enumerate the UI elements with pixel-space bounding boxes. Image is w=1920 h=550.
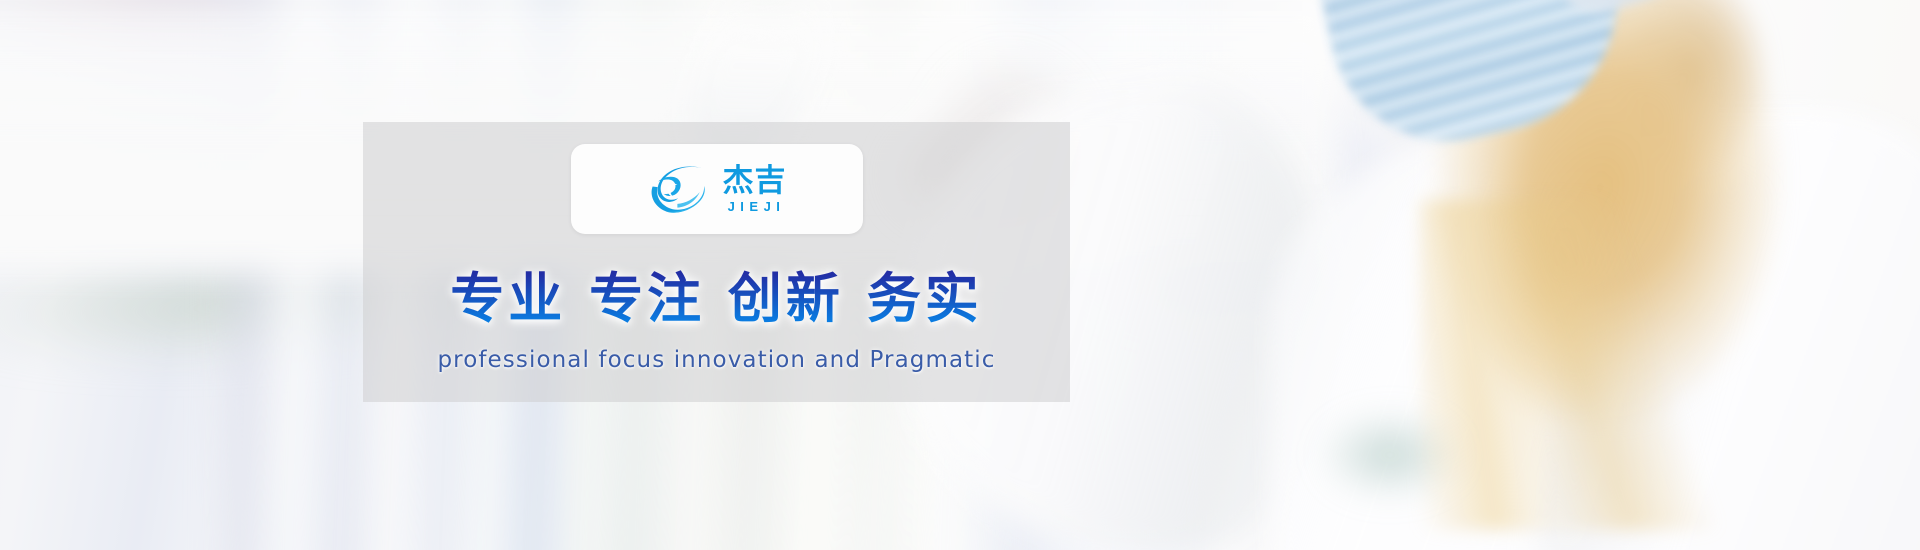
jieji-swirl-mark-icon [647,158,709,220]
slogan-headline: 专业 专注 创新 务实 [450,254,982,333]
logo-chinese-name: 杰吉 [723,166,787,197]
logo-pinyin: JIEJI [728,200,786,213]
content-panel: 杰吉 JIEJI 专业 专注 创新 务实 professional focus … [363,122,1070,402]
company-logo[interactable]: 杰吉 JIEJI [571,144,863,234]
slogan-subtitle: professional focus innovation and Pragma… [437,347,995,373]
hair-strands [1420,200,1720,530]
logo-wordmark: 杰吉 JIEJI [723,166,787,213]
hero-banner: 杰吉 JIEJI 专业 专注 创新 务实 professional focus … [0,0,1920,550]
